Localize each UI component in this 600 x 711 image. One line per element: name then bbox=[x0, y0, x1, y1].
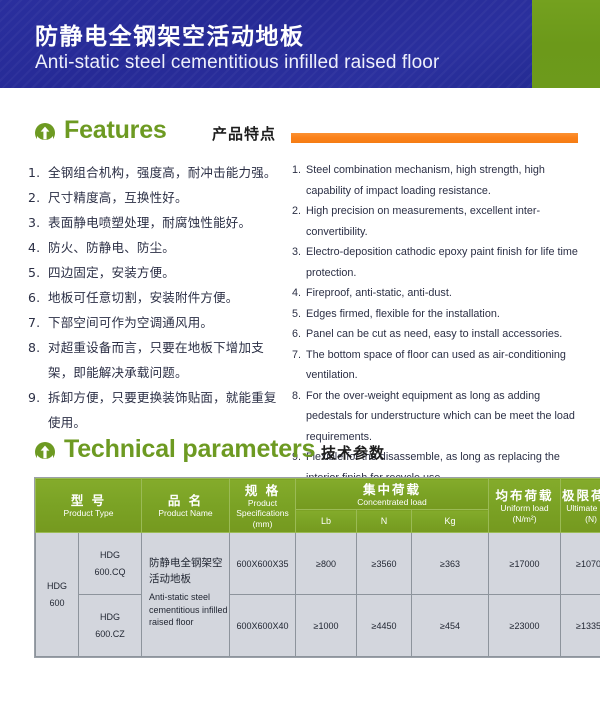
col-header-concentrated-n: N bbox=[357, 510, 412, 533]
list-item-number: 5. bbox=[292, 304, 306, 325]
col-header-specifications-en-l1: Product bbox=[230, 498, 295, 509]
list-item: 3. Electro-deposition cathodic epoxy pai… bbox=[292, 242, 582, 283]
col-header-concentrated-load-cn: 集中荷载 bbox=[296, 481, 488, 497]
banner-title-english: Anti-static steel cementitious infilled … bbox=[35, 52, 439, 74]
list-item-number: 3. bbox=[28, 210, 48, 235]
col-header-specifications-en-l2: Specifications bbox=[230, 508, 295, 519]
cell-specifications: 600X600X35 bbox=[230, 533, 296, 595]
list-item-number: 8. bbox=[28, 335, 48, 360]
list-item: 4. 防火、防静电、防尘。 bbox=[28, 235, 286, 260]
list-item: 5. Edges firmed, flexible for the instal… bbox=[292, 304, 582, 325]
list-item-text: 对超重设备而言，只要在地板下增加支架，即能解决承载问题。 bbox=[48, 335, 286, 385]
col-header-product-type-en: Product Type bbox=[36, 508, 141, 519]
features-title-english: Features bbox=[64, 116, 167, 145]
list-item-number: 1. bbox=[28, 160, 48, 185]
table-header-row-1: 型 号 Product Type 品 名 Product Name 规 格 Pr… bbox=[36, 479, 600, 510]
technical-title-chinese: 技术参数 bbox=[321, 442, 385, 463]
list-item-number: 6. bbox=[28, 285, 48, 310]
col-header-concentrated-load: 集中荷载 Concentrated load bbox=[296, 479, 489, 510]
cell-product-type-cq-l1: HDG bbox=[79, 547, 141, 564]
list-item-number: 9. bbox=[28, 385, 48, 410]
col-header-concentrated-load-en: Concentrated load bbox=[296, 497, 488, 508]
list-item-text: Electro-deposition cathodic epoxy paint … bbox=[306, 242, 582, 283]
features-section-heading: Features 产品特点 bbox=[0, 116, 600, 156]
cell-product-type-cz: HDG 600.CZ bbox=[79, 595, 142, 657]
cell-uniform-load: ≥23000 bbox=[489, 595, 561, 657]
list-item-text: The bottom space of floor can used as ai… bbox=[306, 345, 582, 386]
features-title-chinese: 产品特点 bbox=[212, 123, 276, 144]
list-item-text: Edges firmed, flexible for the installat… bbox=[306, 304, 582, 325]
list-item-text: High precision on measurements, excellen… bbox=[306, 201, 582, 242]
technical-title-english: Technical parameters bbox=[64, 435, 315, 464]
list-item-number: 5. bbox=[28, 260, 48, 285]
list-item-text: 下部空间可作为空调通风用。 bbox=[48, 310, 286, 335]
list-item: 4. Fireproof, anti-static, anti-dust. bbox=[292, 283, 582, 304]
list-item: 9. 拆卸方便，只要更换装饰贴面，就能重复使用。 bbox=[28, 385, 286, 435]
list-item-number: 2. bbox=[28, 185, 48, 210]
col-header-specifications: 规 格 Product Specifications (mm) bbox=[230, 479, 296, 533]
list-item: 6. Panel can be cut as need, easy to ins… bbox=[292, 324, 582, 345]
cell-ultimate-load: ≥10700 bbox=[561, 533, 600, 595]
cell-concentrated-kg: ≥363 bbox=[412, 533, 489, 595]
cell-product-name-en: Anti-static steel cementitious infilled … bbox=[149, 587, 229, 629]
list-item: 7. The bottom space of floor can used as… bbox=[292, 345, 582, 386]
list-item-text: Fireproof, anti-static, anti-dust. bbox=[306, 283, 582, 304]
list-item-text: 地板可任意切割，安装附件方便。 bbox=[48, 285, 286, 310]
list-item-number: 6. bbox=[292, 324, 306, 345]
circle-up-arrow-icon bbox=[34, 122, 56, 144]
list-item-number: 2. bbox=[292, 201, 306, 222]
list-item: 5. 四边固定，安装方便。 bbox=[28, 260, 286, 285]
cell-concentrated-n: ≥3560 bbox=[357, 533, 412, 595]
list-item: 7. 下部空间可作为空调通风用。 bbox=[28, 310, 286, 335]
cell-concentrated-n: ≥4450 bbox=[357, 595, 412, 657]
col-header-ultimate-load-unit: (N) bbox=[561, 514, 600, 525]
circle-up-arrow-icon bbox=[34, 441, 56, 463]
col-header-specifications-cn: 规 格 bbox=[230, 482, 295, 498]
list-item-text: 拆卸方便，只要更换装饰贴面，就能重复使用。 bbox=[48, 385, 286, 435]
cell-product-type-cq: HDG 600.CQ bbox=[79, 533, 142, 595]
cell-ultimate-load: ≥13350 bbox=[561, 595, 600, 657]
cell-product-name-cn: 防静电全钢架空活动地板 bbox=[149, 533, 229, 587]
list-item: 2. 尺寸精度高，互换性好。 bbox=[28, 185, 286, 210]
cell-product-type-group: HDG 600 bbox=[36, 533, 79, 657]
cell-product-type-cz-l1: HDG bbox=[79, 609, 141, 626]
list-item: 1. 全钢组合机构，强度高，耐冲击能力强。 bbox=[28, 160, 286, 185]
col-header-product-name: 品 名 Product Name bbox=[142, 479, 230, 533]
col-header-uniform-load: 均布荷载 Uniform load (N/m²) bbox=[489, 479, 561, 533]
banner-title-chinese: 防静电全钢架空活动地板 bbox=[35, 17, 305, 51]
col-header-concentrated-kg: Kg bbox=[412, 510, 489, 533]
list-item-text: 全钢组合机构，强度高，耐冲击能力强。 bbox=[48, 160, 286, 185]
table-row: HDG 600.CZ 600X600X40 ≥1000 ≥4450 ≥454 ≥… bbox=[36, 595, 600, 657]
list-item-text: Panel can be cut as need, easy to instal… bbox=[306, 324, 582, 345]
table-row: HDG 600 HDG 600.CQ 防静电全钢架空活动地板 Anti-stat… bbox=[36, 533, 600, 595]
col-header-product-type-cn: 型 号 bbox=[36, 492, 141, 508]
cell-product-type-group-l2: 600 bbox=[36, 595, 78, 612]
list-item-text: 防火、防静电、防尘。 bbox=[48, 235, 286, 260]
cell-concentrated-kg: ≥454 bbox=[412, 595, 489, 657]
list-item-text: 表面静电喷塑处理，耐腐蚀性能好。 bbox=[48, 210, 286, 235]
cell-product-name: 防静电全钢架空活动地板 Anti-static steel cementitio… bbox=[142, 533, 230, 657]
col-header-ultimate-load: 极限荷载 Ultimate load (N) bbox=[561, 479, 600, 533]
list-item-number: 7. bbox=[292, 345, 306, 366]
banner-green-block bbox=[532, 0, 600, 88]
col-header-uniform-load-en: Uniform load bbox=[489, 503, 560, 514]
list-item: 6. 地板可任意切割，安装附件方便。 bbox=[28, 285, 286, 310]
cell-product-type-cq-l2: 600.CQ bbox=[79, 564, 141, 581]
cell-product-type-group-l1: HDG bbox=[36, 578, 78, 595]
features-list-chinese: 1. 全钢组合机构，强度高，耐冲击能力强。 2. 尺寸精度高，互换性好。 3. … bbox=[28, 160, 286, 435]
list-item-text: 四边固定，安装方便。 bbox=[48, 260, 286, 285]
col-header-specifications-en-l3: (mm) bbox=[230, 519, 295, 530]
list-item-text: 尺寸精度高，互换性好。 bbox=[48, 185, 286, 210]
cell-concentrated-lb: ≥800 bbox=[296, 533, 357, 595]
col-header-uniform-load-cn: 均布荷载 bbox=[489, 487, 560, 503]
technical-section-heading: Technical parameters 技术参数 bbox=[0, 435, 600, 475]
technical-parameters-table: 型 号 Product Type 品 名 Product Name 规 格 Pr… bbox=[35, 478, 600, 657]
cell-specifications: 600X600X40 bbox=[230, 595, 296, 657]
col-header-product-name-cn: 品 名 bbox=[142, 492, 229, 508]
list-item-number: 4. bbox=[292, 283, 306, 304]
list-item-number: 7. bbox=[28, 310, 48, 335]
list-item: 3. 表面静电喷塑处理，耐腐蚀性能好。 bbox=[28, 210, 286, 235]
col-header-ultimate-load-en: Ultimate load bbox=[561, 503, 600, 514]
features-orange-rule bbox=[291, 133, 578, 143]
list-item: 2. High precision on measurements, excel… bbox=[292, 201, 582, 242]
col-header-product-type: 型 号 Product Type bbox=[36, 479, 142, 533]
list-item-text: Steel combination mechanism, high streng… bbox=[306, 160, 582, 201]
list-item-number: 4. bbox=[28, 235, 48, 260]
cell-product-type-cz-l2: 600.CZ bbox=[79, 626, 141, 643]
list-item: 8. 对超重设备而言，只要在地板下增加支架，即能解决承载问题。 bbox=[28, 335, 286, 385]
page-header-banner: 防静电全钢架空活动地板 Anti-static steel cementitio… bbox=[0, 0, 600, 88]
col-header-concentrated-lb: Lb bbox=[296, 510, 357, 533]
col-header-product-name-en: Product Name bbox=[142, 508, 229, 519]
cell-concentrated-lb: ≥1000 bbox=[296, 595, 357, 657]
list-item-number: 8. bbox=[292, 386, 306, 407]
cell-uniform-load: ≥17000 bbox=[489, 533, 561, 595]
list-item-number: 1. bbox=[292, 160, 306, 181]
col-header-ultimate-load-cn: 极限荷载 bbox=[561, 487, 600, 503]
list-item-number: 3. bbox=[292, 242, 306, 263]
list-item: 1. Steel combination mechanism, high str… bbox=[292, 160, 582, 201]
col-header-uniform-load-unit: (N/m²) bbox=[489, 514, 560, 525]
